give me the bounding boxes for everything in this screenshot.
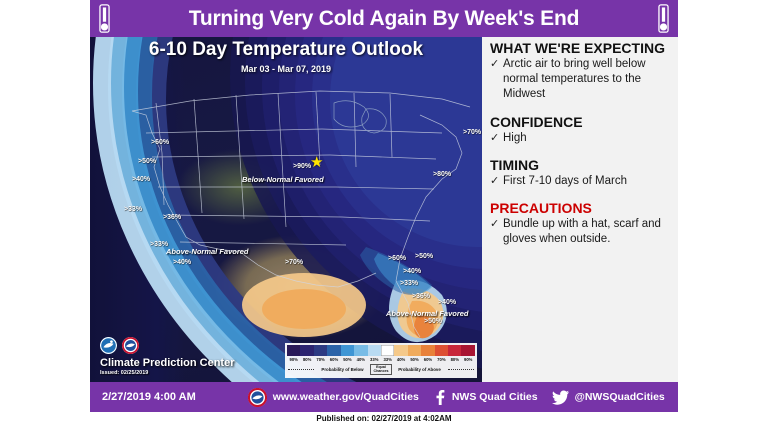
legend-captions: Probability of Below Equal Chances Proba… — [287, 364, 475, 375]
legend-caption-equal: Equal Chances — [370, 364, 392, 375]
legend-tick: 70% — [314, 357, 327, 362]
legend-dots-left — [288, 369, 314, 370]
contour-label: >50% — [138, 158, 156, 165]
section-heading-confidence: CONFIDENCE — [490, 115, 672, 130]
contour-label: >40% — [173, 259, 191, 266]
region-label-above-normal-florida: Above-Normal Favored — [386, 309, 469, 318]
probability-contours — [90, 37, 482, 382]
legend-swatch — [368, 345, 381, 356]
legend-swatch — [300, 345, 313, 356]
contour-label: >40% — [403, 268, 421, 275]
contour-label: >36% — [412, 293, 430, 300]
contour-label: >33% — [400, 280, 418, 287]
legend-swatch — [341, 345, 354, 356]
legend-color-swatches — [287, 345, 475, 356]
section-text-expecting: Arctic air to bring well below normal te… — [503, 57, 672, 103]
section-body-timing: ✓ First 7-10 days of March — [490, 174, 672, 189]
thermometer-icon — [657, 4, 670, 33]
contour-label: >80% — [433, 171, 451, 178]
region-label-above-normal-southwest: Above-Normal Favored — [166, 247, 249, 256]
legend-swatch — [287, 345, 300, 356]
map-title-block: 6-10 Day Temperature Outlook Mar 03 - Ma… — [90, 39, 482, 74]
map-title: 6-10 Day Temperature Outlook — [90, 39, 482, 61]
twitter-icon — [552, 390, 569, 405]
legend-tick: 50% — [408, 357, 421, 362]
graphic-footer: 2/27/2019 4:00 AM www.weather.gov/QuadCi… — [90, 382, 678, 412]
legend-swatch — [408, 345, 421, 356]
info-panel: WHAT WE'RE EXPECTING ✓ Arctic air to bri… — [482, 37, 678, 382]
section-text-timing: First 7-10 days of March — [503, 174, 627, 189]
graphic-header: Turning Very Cold Again By Week's End — [90, 0, 678, 37]
legend-swatch — [394, 345, 407, 356]
legend-caption-above: Probability of Above — [392, 367, 447, 372]
noaa-logo-icon — [100, 337, 117, 354]
screenshot-root: Turning Very Cold Again By Week's End — [0, 0, 768, 432]
legend-tick: 80% — [300, 357, 313, 362]
section-heading-expecting: WHAT WE'RE EXPECTING — [490, 41, 672, 56]
check-icon: ✓ — [490, 131, 503, 146]
footer-facebook[interactable]: NWS Quad Cities — [452, 391, 538, 403]
legend-tick: 90% — [287, 357, 300, 362]
legend-tick: 90% — [461, 357, 474, 362]
section-body-expecting: ✓ Arctic air to bring well below normal … — [490, 57, 672, 103]
legend-swatch — [354, 345, 367, 356]
legend-swatch — [421, 345, 434, 356]
cpc-credit: Climate Prediction Center Issued: 02/25/… — [100, 337, 234, 376]
check-icon: ✓ — [490, 174, 503, 189]
legend-swatch — [461, 345, 474, 356]
legend-tick: 60% — [421, 357, 434, 362]
legend-swatch — [327, 345, 340, 356]
legend-tick: 50% — [341, 357, 354, 362]
legend-tick: 80% — [448, 357, 461, 362]
region-label-below-normal: Below-Normal Favored — [242, 175, 324, 184]
legend-swatch — [448, 345, 461, 356]
contour-label: >40% — [132, 176, 150, 183]
legend-swatch — [435, 345, 448, 356]
published-caption: Published on: 02/27/2019 at 4:02AM — [0, 414, 768, 423]
check-icon: ✓ — [490, 217, 503, 247]
footer-website-group[interactable]: www.weather.gov/QuadCities — [248, 388, 419, 407]
section-body-confidence: ✓ High — [490, 131, 672, 146]
contour-label: >50% — [424, 318, 442, 325]
legend-tick: 40% — [394, 357, 407, 362]
thermometer-icon — [98, 4, 111, 33]
contour-label: >90% — [293, 163, 311, 170]
spacer — [490, 103, 672, 115]
legend-tick: 70% — [435, 357, 448, 362]
check-icon: ✓ — [490, 57, 503, 103]
section-heading-timing: TIMING — [490, 158, 672, 173]
cpc-issued-date: Issued: 02/25/2019 — [100, 370, 234, 376]
contour-label: >70% — [285, 259, 303, 266]
section-body-precautions: ✓ Bundle up with a hat, scarf and gloves… — [490, 217, 672, 247]
facebook-icon — [433, 389, 446, 405]
weather-graphic: Turning Very Cold Again By Week's End — [90, 0, 678, 412]
nws-seal-icon — [122, 337, 139, 354]
contour-label: >36% — [163, 214, 181, 221]
footer-twitter-group[interactable]: @NWSQuadCities — [552, 390, 665, 405]
map-date-range: Mar 03 - Mar 07, 2019 — [90, 64, 482, 74]
legend-tick: 60% — [327, 357, 340, 362]
legend-tick: 33% — [368, 357, 381, 362]
contour-label: >60% — [151, 139, 169, 146]
contour-label: >40% — [438, 299, 456, 306]
footer-facebook-group[interactable]: NWS Quad Cities — [433, 389, 538, 405]
page-title: Turning Very Cold Again By Week's End — [189, 7, 579, 31]
contour-label: >33% — [124, 206, 142, 213]
section-text-confidence: High — [503, 131, 527, 146]
legend-dots-right — [448, 369, 474, 370]
outlook-map: 6-10 Day Temperature Outlook Mar 03 - Ma… — [90, 37, 482, 382]
legend-tick: 33% — [381, 357, 394, 362]
footer-issued-datetime: 2/27/2019 4:00 AM — [102, 391, 196, 403]
contour-label: >50% — [415, 253, 433, 260]
section-heading-precautions: PRECAUTIONS — [490, 201, 672, 216]
cpc-name: Climate Prediction Center — [100, 357, 234, 369]
legend-tick-labels: 90%80%70%60%50%40%33%33%40%50%60%70%80%9… — [287, 357, 475, 362]
legend-tick: 40% — [354, 357, 367, 362]
legend-swatch — [314, 345, 327, 356]
legend-swatch — [381, 345, 394, 356]
section-text-precautions: Bundle up with a hat, scarf and gloves w… — [503, 217, 672, 247]
footer-twitter[interactable]: @NWSQuadCities — [575, 391, 665, 403]
nws-seal-icon — [248, 388, 267, 407]
quad-cities-star-icon: ★ — [310, 155, 323, 170]
probability-legend: 90%80%70%60%50%40%33%33%40%50%60%70%80%9… — [285, 343, 477, 378]
footer-website[interactable]: www.weather.gov/QuadCities — [273, 391, 419, 403]
agency-logos — [100, 337, 234, 354]
legend-caption-below: Probability of Below — [315, 367, 370, 372]
contour-label: >60% — [388, 255, 406, 262]
contour-label: >70% — [463, 129, 481, 136]
